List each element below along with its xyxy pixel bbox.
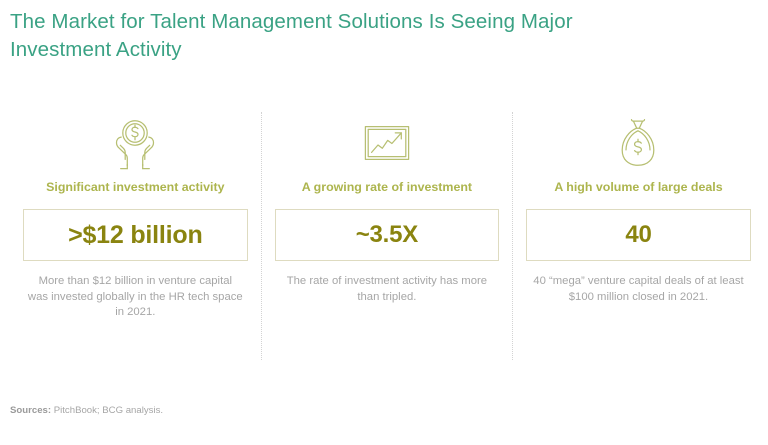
stat-value: ~3.5X: [356, 223, 418, 247]
sources-label: Sources:: [10, 405, 51, 416]
stat-column-large-deals: A high volume of large deals 40 40 “mega…: [513, 112, 764, 360]
stat-heading: Significant investment activity: [46, 180, 224, 195]
stat-value: 40: [625, 223, 651, 247]
sources-text: PitchBook; BCG analysis.: [54, 405, 163, 416]
stat-value: >$12 billion: [68, 223, 202, 248]
stat-value-box: >$12 billion: [23, 209, 248, 261]
stat-column-investment-activity: Significant investment activity >$12 bil…: [10, 112, 261, 360]
stat-column-growing-rate: A growing rate of investment ~3.5X The r…: [262, 112, 513, 360]
stat-value-box: 40: [526, 209, 751, 261]
stat-heading: A growing rate of investment: [302, 180, 472, 195]
stat-description: 40 “mega” venture capital deals of at le…: [526, 274, 751, 305]
stat-heading: A high volume of large deals: [554, 180, 722, 195]
sources-footer: Sources: PitchBook; BCG analysis.: [10, 404, 163, 417]
stat-value-box: ~3.5X: [275, 209, 500, 261]
hands-holding-coin-icon: [107, 114, 163, 172]
stat-columns: Significant investment activity >$12 bil…: [10, 112, 758, 360]
rising-chart-framed-icon: [364, 114, 410, 172]
money-bag-icon: [616, 114, 660, 172]
stat-description: More than $12 billion in venture capital…: [23, 274, 248, 321]
stat-description: The rate of investment activity has more…: [275, 274, 500, 305]
page-title: The Market for Talent Management Solutio…: [10, 8, 660, 64]
slide-canvas: The Market for Talent Management Solutio…: [0, 0, 768, 445]
